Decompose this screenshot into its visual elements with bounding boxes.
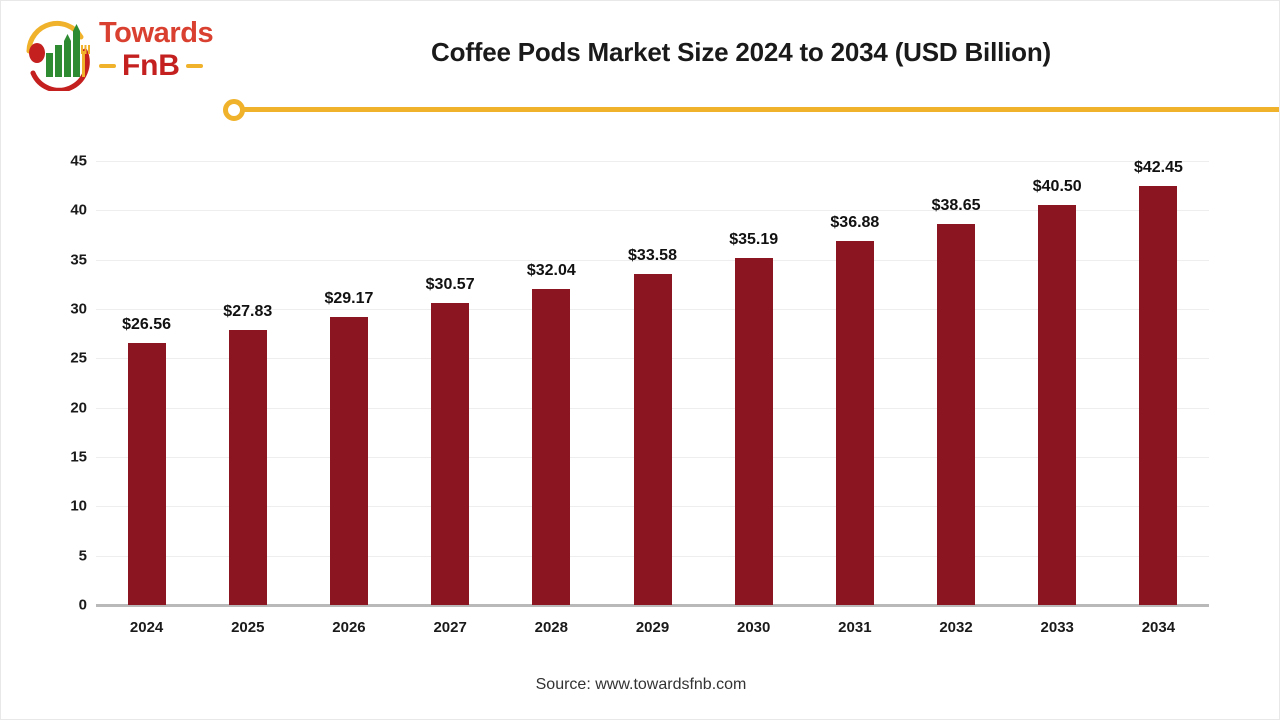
y-axis-tick-label: 15 (41, 449, 87, 466)
bar[interactable] (229, 330, 267, 605)
y-axis-tick-label: 25 (41, 350, 87, 367)
bar[interactable] (532, 289, 570, 605)
bar-value-label: $38.65 (896, 197, 1016, 215)
bar[interactable] (431, 303, 469, 605)
bar[interactable] (128, 343, 166, 605)
y-axis-tick-label: 5 (41, 547, 87, 564)
bar[interactable] (330, 317, 368, 605)
y-axis-tick-label: 30 (41, 301, 87, 318)
y-axis-tick-label: 35 (41, 251, 87, 268)
source-caption: Source: www.towardsfnb.com (1, 676, 1280, 694)
bar[interactable] (735, 258, 773, 605)
bar[interactable] (1038, 205, 1076, 605)
bar-chart: 051015202530354045 $26.56$27.83$29.17$30… (1, 1, 1280, 720)
bar[interactable] (634, 274, 672, 605)
bar-value-label: $42.45 (1098, 159, 1218, 177)
bar[interactable] (1139, 186, 1177, 605)
chart-page: Towards FnB Coffee Pods Market Size 2024… (0, 0, 1280, 720)
bar-value-label: $33.58 (593, 247, 713, 265)
bar-value-label: $36.88 (795, 214, 915, 232)
y-axis-tick-label: 40 (41, 202, 87, 219)
gridline (96, 161, 1209, 162)
bar[interactable] (836, 241, 874, 605)
y-axis-tick-label: 10 (41, 498, 87, 515)
bar[interactable] (937, 224, 975, 605)
bar-value-label: $35.19 (694, 231, 814, 249)
bar-value-label: $40.50 (997, 178, 1117, 196)
y-axis-tick-label: 45 (41, 153, 87, 170)
x-axis-tick-label: 2034 (1098, 619, 1218, 636)
y-axis-tick-label: 20 (41, 399, 87, 416)
y-axis-tick-label: 0 (41, 597, 87, 614)
